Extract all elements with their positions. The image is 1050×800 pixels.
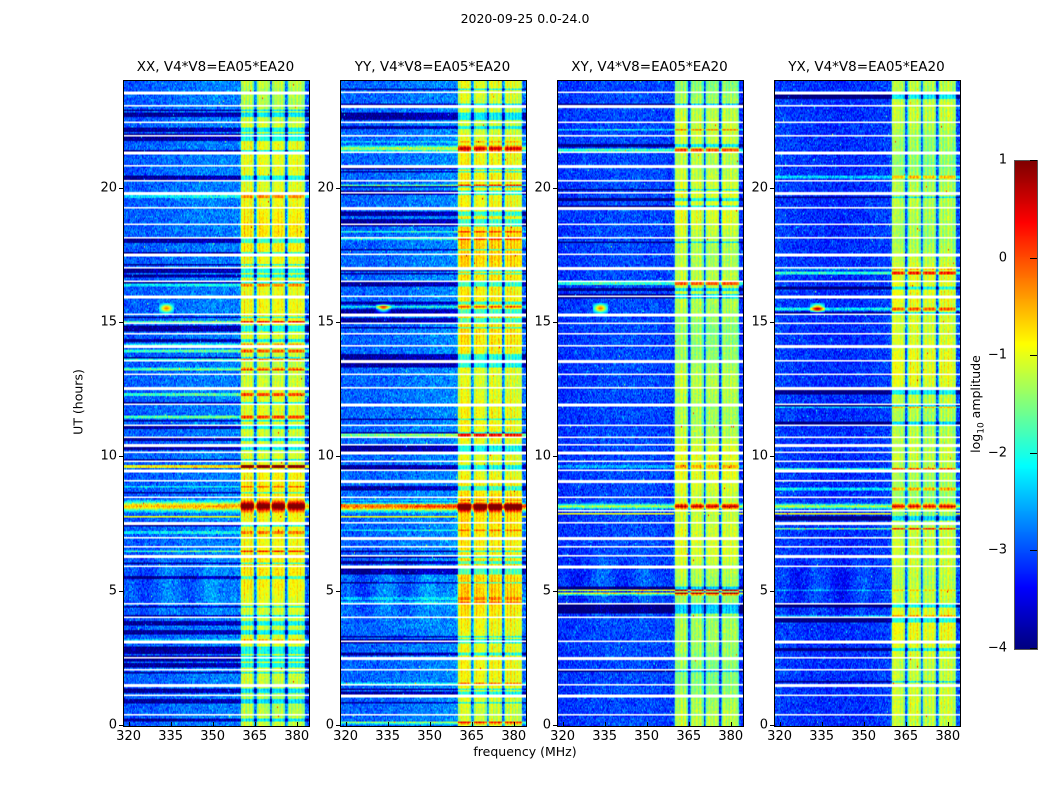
y-tick-label: 0 [519,718,551,733]
colorbar-tick-label: 0 [983,250,1007,265]
y-tick-mark [336,188,340,189]
x-tick-label: 365 [237,729,273,744]
panel-title-yy: YY, V4*V8=EA05*EA20 [340,58,525,76]
colorbar-tick-label: −2 [983,445,1007,460]
colorbar[interactable] [1014,160,1038,650]
y-tick-label: 20 [519,180,551,195]
x-tick-label: 335 [370,729,406,744]
y-tick-mark [553,456,557,457]
x-tick-label: 335 [153,729,189,744]
colorbar-tick-mark [1030,160,1037,161]
colorbar-tick-label: −4 [983,641,1007,656]
y-tick-mark [770,188,774,189]
y-tick-label: 10 [85,449,117,464]
heatmap-panel-yx[interactable] [774,80,961,727]
y-tick-mark [119,591,123,592]
y-tick-mark [770,591,774,592]
y-tick-label: 5 [519,583,551,598]
heatmap-image-xx [124,81,309,726]
x-tick-label: 350 [412,729,448,744]
colorbar-tick-mark [1030,355,1037,356]
y-tick-mark [119,456,123,457]
y-tick-label: 0 [736,718,768,733]
y-tick-mark [336,322,340,323]
y-tick-label: 10 [302,449,334,464]
colorbar-tick-mark [1030,258,1037,259]
x-tick-label: 350 [846,729,882,744]
y-tick-label: 5 [302,583,334,598]
colorbar-tick-mark [1030,550,1037,551]
colorbar-tick-label: −3 [983,543,1007,558]
y-tick-label: 20 [85,180,117,195]
y-tick-mark [770,322,774,323]
x-tick-mark [864,722,865,726]
x-tick-label: 365 [888,729,924,744]
x-axis-label: frequency (MHz) [0,744,1050,759]
y-tick-mark [336,456,340,457]
x-tick-label: 335 [587,729,623,744]
x-tick-mark [297,722,298,726]
y-tick-mark [553,322,557,323]
x-tick-mark [563,722,564,726]
x-tick-label: 350 [195,729,231,744]
y-tick-label: 15 [85,314,117,329]
x-tick-mark [780,722,781,726]
y-tick-label: 15 [519,314,551,329]
y-tick-label: 10 [736,449,768,464]
heatmap-image-yx [775,81,960,726]
colorbar-tick-mark [1030,453,1037,454]
panel-title-yx: YX, V4*V8=EA05*EA20 [774,58,959,76]
x-tick-mark [213,722,214,726]
x-tick-label: 350 [629,729,665,744]
y-tick-label: 10 [519,449,551,464]
x-tick-mark [129,722,130,726]
y-tick-label: 15 [736,314,768,329]
x-tick-mark [647,722,648,726]
figure-suptitle: 2020-09-25 0.0-24.0 [0,11,1050,26]
y-axis-label: UT (hours) [71,369,86,435]
y-tick-label: 5 [736,583,768,598]
x-tick-label: 365 [454,729,490,744]
panel-title-xy: XY, V4*V8=EA05*EA20 [557,58,742,76]
x-tick-mark [430,722,431,726]
heatmap-panel-xy[interactable] [557,80,744,727]
panel-title-xx: XX, V4*V8=EA05*EA20 [123,58,308,76]
colorbar-tick-label: 1 [983,153,1007,168]
y-tick-label: 0 [302,718,334,733]
y-tick-mark [119,725,123,726]
x-tick-label: 335 [804,729,840,744]
x-tick-mark [388,722,389,726]
y-tick-mark [553,591,557,592]
colorbar-gradient [1015,161,1037,649]
y-tick-mark [553,725,557,726]
y-tick-mark [553,188,557,189]
heatmap-panel-xx[interactable] [123,80,310,727]
heatmap-image-xy [558,81,743,726]
x-tick-label: 365 [671,729,707,744]
x-tick-mark [948,722,949,726]
y-tick-label: 20 [302,180,334,195]
y-tick-mark [770,725,774,726]
x-tick-mark [514,722,515,726]
y-tick-mark [119,322,123,323]
heatmap-image-yy [341,81,526,726]
colorbar-label-prefix: log [968,434,983,453]
x-tick-label: 380 [930,729,966,744]
y-tick-mark [119,188,123,189]
x-tick-mark [255,722,256,726]
x-tick-mark [472,722,473,726]
colorbar-tick-label: −1 [983,348,1007,363]
y-tick-mark [336,725,340,726]
colorbar-tick-mark [1030,648,1037,649]
colorbar-label: log10 amplitude [968,355,987,453]
x-tick-mark [906,722,907,726]
colorbar-label-subscript: 10 [976,422,986,433]
x-tick-mark [171,722,172,726]
colorbar-label-suffix: amplitude [968,355,983,422]
x-tick-mark [822,722,823,726]
y-tick-label: 20 [736,180,768,195]
x-tick-mark [731,722,732,726]
y-tick-mark [770,456,774,457]
y-tick-label: 5 [85,583,117,598]
x-tick-mark [689,722,690,726]
x-tick-mark [346,722,347,726]
figure-canvas: 2020-09-25 0.0-24.0 XX, V4*V8=EA05*EA20 … [0,0,1050,800]
y-tick-label: 0 [85,718,117,733]
y-tick-label: 15 [302,314,334,329]
x-tick-mark [605,722,606,726]
y-tick-mark [336,591,340,592]
heatmap-panel-yy[interactable] [340,80,527,727]
